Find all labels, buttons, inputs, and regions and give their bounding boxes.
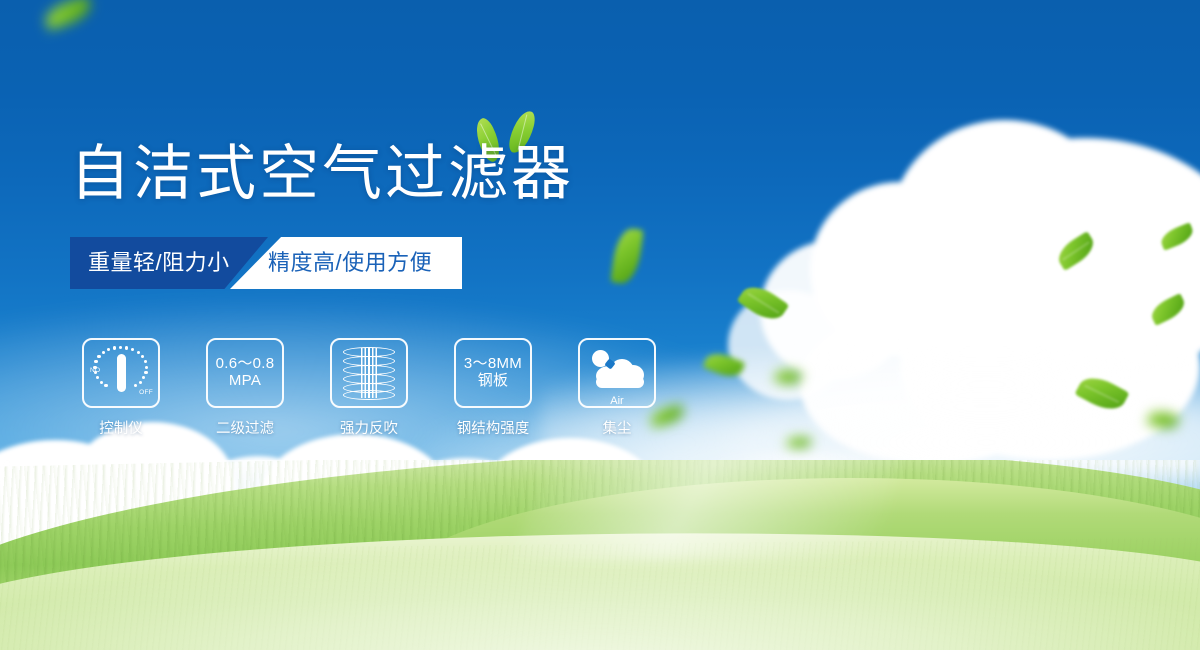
pressure-value-icon: 0.6～0.8 MPA [216, 356, 275, 390]
pressure-unit: MPA [216, 373, 275, 390]
gauge-needle [117, 354, 126, 392]
feature-icon-box: 3～8MM 钢板 [454, 338, 532, 408]
feature-label: 控制仪 [99, 417, 143, 438]
feature-item-backblow[interactable]: 强力反吹 [330, 338, 408, 438]
subtitle-left-text: 重量轻/阻力小 [88, 237, 230, 289]
feature-icon-box: NO OFF [82, 338, 160, 408]
feature-label: 强力反吹 [340, 417, 398, 438]
gauge-dial-icon: NO OFF [90, 345, 152, 401]
feature-list: NO OFF 控制仪 0.6～0.8 MPA 二级过滤 [82, 338, 656, 438]
subtitle-bar: 重量轻/阻力小 精度高/使用方便 [70, 237, 462, 289]
gauge-label-no: NO [90, 367, 100, 374]
page-title: 自洁式空气过滤器 [70, 142, 574, 205]
feature-icon-box: 0.6～0.8 MPA [206, 338, 284, 408]
steel-thickness: 3～8MM [464, 356, 522, 373]
steel-plate-icon: 3～8MM 钢板 [464, 356, 522, 390]
product-banner: 自洁式空气过滤器 重量轻/阻力小 精度高/使用方便 [0, 0, 1200, 650]
pressure-range: 0.6～0.8 [216, 356, 275, 373]
grass-field [0, 460, 1200, 650]
feature-label: 钢结构强度 [457, 417, 530, 438]
feature-item-filtration[interactable]: 0.6～0.8 MPA 二级过滤 [206, 338, 284, 438]
feature-label: 二级过滤 [216, 417, 274, 438]
cloud-sun-air-icon: Air [586, 348, 648, 398]
air-label: Air [586, 395, 648, 407]
feature-icon-box: Air [578, 338, 656, 408]
grass-path [0, 550, 1200, 650]
steel-material: 钢板 [464, 373, 522, 390]
feature-item-steel[interactable]: 3～8MM 钢板 钢结构强度 [454, 338, 532, 438]
feature-item-controller[interactable]: NO OFF 控制仪 [82, 338, 160, 438]
grass-path-highlight [512, 460, 904, 560]
gauge-label-off: OFF [139, 389, 153, 396]
feature-label: 集尘 [603, 417, 632, 438]
subtitle-right-text: 精度高/使用方便 [268, 237, 432, 289]
feature-icon-box [330, 338, 408, 408]
feature-item-dust-collection[interactable]: Air 集尘 [578, 338, 656, 438]
filter-stack-icon [343, 346, 395, 400]
